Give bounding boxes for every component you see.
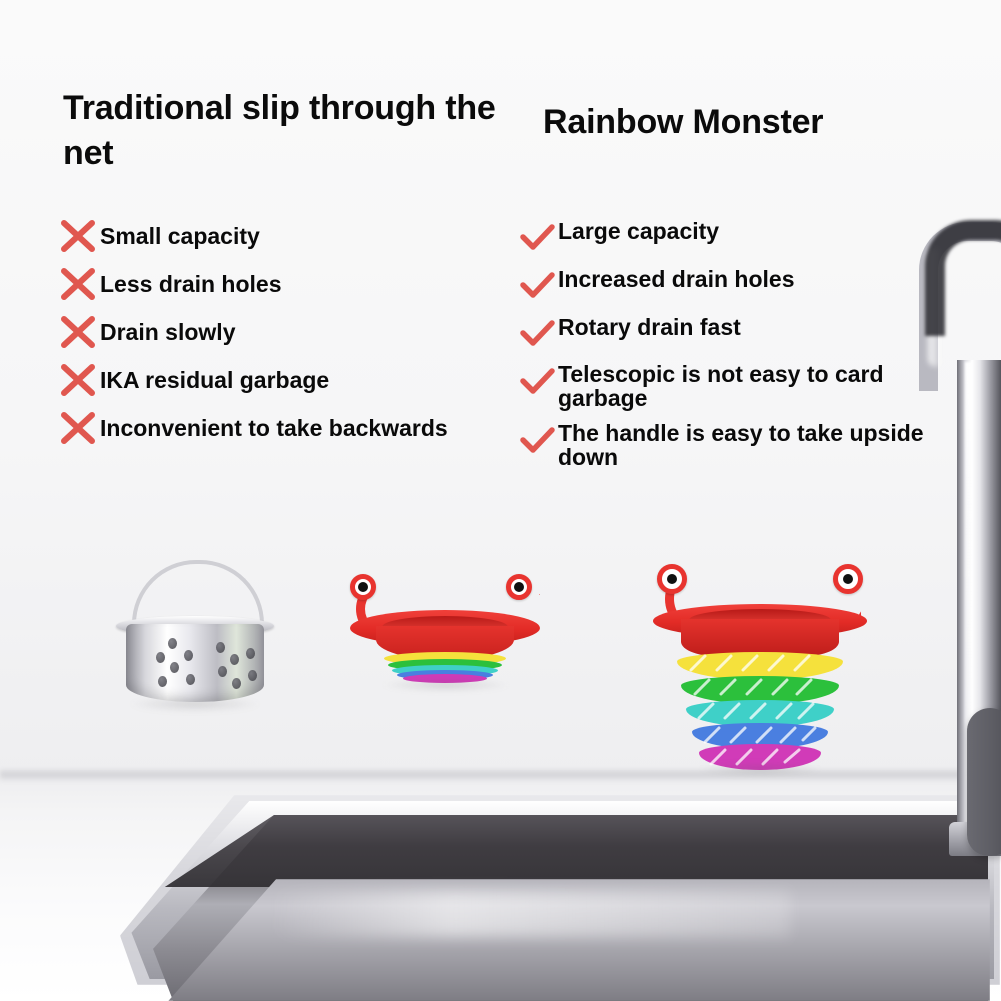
list-item: Large capacity (516, 218, 956, 256)
list-item-label: Inconvenient to take backwards (100, 415, 448, 440)
product-monster-expanded (645, 556, 875, 766)
list-item-label: Large capacity (558, 218, 719, 243)
check-icon (516, 218, 558, 256)
list-item: IKA residual garbage (58, 362, 528, 398)
drain-slots (673, 648, 849, 776)
product-traditional-strainer (110, 560, 280, 705)
kitchen-sink (120, 795, 1000, 1001)
list-item: Drain slowly (58, 314, 528, 350)
right-heading: Rainbow Monster (543, 100, 963, 145)
product-shadow (128, 696, 262, 712)
list-item-label: Telescopic is not easy to card garbage (558, 362, 956, 411)
left-heading: Traditional slip through the net (63, 86, 523, 176)
list-item-label: Rotary drain fast (558, 314, 741, 339)
list-item-label: The handle is easy to take upside down (558, 421, 956, 470)
cross-icon (58, 265, 100, 303)
check-icon (516, 421, 558, 459)
strainer-body (126, 624, 264, 702)
traditional-feature-list: Small capacity Less drain holes Drain sl… (58, 218, 528, 458)
list-item: Increased drain holes (516, 266, 956, 304)
list-item-label: IKA residual garbage (100, 367, 329, 392)
list-item: Inconvenient to take backwards (58, 410, 528, 446)
check-icon (516, 362, 558, 400)
right-column: Rainbow Monster (543, 100, 963, 145)
infographic-canvas: Traditional slip through the net Rainbow… (0, 0, 1001, 1001)
eye-left (350, 574, 376, 600)
list-item-label: Less drain holes (100, 271, 282, 296)
list-item: Telescopic is not easy to card garbage (516, 362, 956, 411)
faucet-lever-handle (967, 708, 1001, 856)
list-item-label: Small capacity (100, 223, 260, 248)
cross-icon (58, 409, 100, 447)
eye-right (506, 574, 532, 600)
list-item: Less drain holes (58, 266, 528, 302)
countertop-edge (0, 768, 1001, 782)
sink-basin-back-wall (148, 815, 988, 887)
check-icon (516, 266, 558, 304)
cross-icon (58, 217, 100, 255)
eye-left (657, 564, 687, 594)
product-shadow (380, 678, 512, 692)
list-item-label: Increased drain holes (558, 266, 794, 291)
list-item: The handle is easy to take upside down (516, 421, 956, 470)
list-item: Small capacity (58, 218, 528, 254)
list-item: Rotary drain fast (516, 314, 956, 352)
rainbow-monster-feature-list: Large capacity Increased drain holes Rot… (516, 218, 956, 480)
check-icon (516, 314, 558, 352)
eye-right (833, 564, 863, 594)
list-item-label: Drain slowly (100, 319, 235, 344)
left-column: Traditional slip through the net (63, 86, 523, 176)
product-shadow (697, 762, 823, 776)
product-monster-collapsed (340, 560, 550, 680)
cross-icon (58, 313, 100, 351)
cross-icon (58, 361, 100, 399)
sink-highlight (270, 891, 790, 937)
